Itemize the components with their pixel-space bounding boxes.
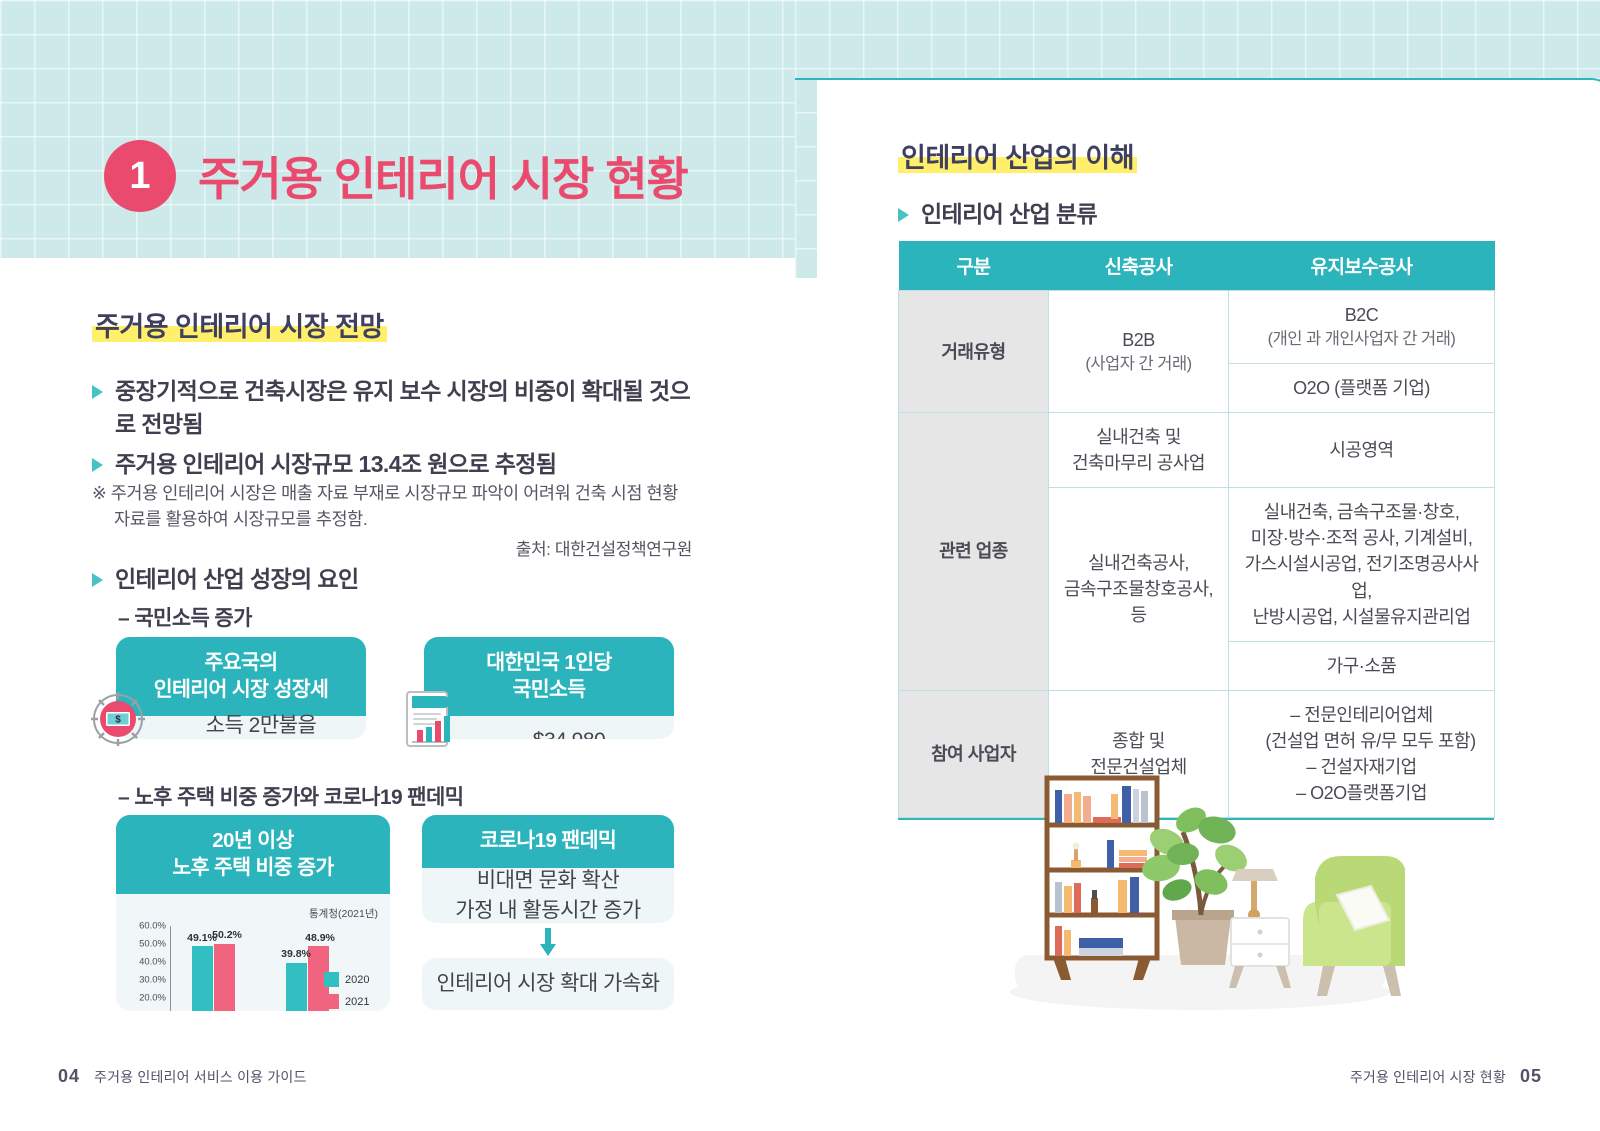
page-title: 주거용 인테리어 시장 현황 xyxy=(198,143,688,209)
card-covid-body: 비대면 문화 확산 가정 내 활동시간 증가 xyxy=(422,868,674,923)
chart-title: 20년 이상 노후 주택 비중 증가 xyxy=(116,815,390,894)
legend-label: 2020 xyxy=(345,974,369,986)
svg-text:$: $ xyxy=(115,715,121,726)
footer-left: 04 주거용 인테리어 서비스 이용 가이드 xyxy=(58,1066,307,1087)
triangle-bullet-icon xyxy=(92,573,103,587)
left-section-title: 주거용 인테리어 시장 전망 xyxy=(92,305,387,344)
bullet-item: 주거용 인테리어 시장규모 13.4조 원으로 추정됨 xyxy=(92,448,722,481)
header-band xyxy=(0,0,795,258)
legend-swatch xyxy=(324,994,339,1009)
triangle-bullet-icon xyxy=(898,208,909,222)
card-covid-result-text: 인테리어 시장 확대 가속화 xyxy=(422,958,674,1010)
bar-value-label: 39.8% xyxy=(281,948,311,960)
footer-left-text: 주거용 인테리어 서비스 이용 가이드 xyxy=(94,1067,307,1087)
source-label: 출처: 대한건설정책연구원 xyxy=(92,535,692,560)
bar-2020-nationwide xyxy=(192,946,213,1011)
cell-maint-construction-area: 시공영역 xyxy=(1229,413,1495,488)
bullet-item: 중장기적으로 건축시장은 유지 보수 시장의 비중이 확대될 것으로 전망됨 xyxy=(92,375,722,440)
legend-item-2020: 2020 xyxy=(324,972,369,987)
card-income-body: $34,980 xyxy=(424,716,674,739)
table-header-cell: 신축공사 xyxy=(1049,241,1229,291)
chapter-header: 1 주거용 인테리어 시장 현황 xyxy=(104,140,688,212)
note-line-1: ※ 주거용 인테리어 시장은 매출 자료 부재로 시장규모 파악이 어려워 건축… xyxy=(92,480,712,506)
ytick-label: 50.0% xyxy=(124,939,166,950)
page-number-left: 04 xyxy=(58,1066,80,1087)
card-income: 대한민국 1인당 국민소득 $34,980 xyxy=(424,637,674,739)
table-row: 관련 업종 실내건축 및 건축마무리 공사업 시공영역 xyxy=(899,413,1495,488)
classification-table: 구분 신축공사 유지보수공사 거래유형 B2B (사업자 간 거래) B2C (… xyxy=(898,241,1495,818)
cell-new-b2b: B2B (사업자 간 거래) xyxy=(1049,291,1229,413)
note-line-2: 자료를 활용하여 시장규모를 추정함. xyxy=(92,506,712,532)
legend-item-2021: 2021 xyxy=(324,994,369,1009)
footer-right: 주거용 인테리어 시장 현황 05 xyxy=(1350,1066,1542,1087)
arrow-down-icon xyxy=(536,928,560,958)
chart-source-note: 통계청(2021년) xyxy=(309,906,378,921)
table-header-cell: 구분 xyxy=(899,241,1049,291)
card-income-header: 대한민국 1인당 국민소득 xyxy=(424,637,674,716)
money-gear-icon: $ xyxy=(88,690,148,748)
bookshelf-icon xyxy=(1047,778,1157,980)
page-number-right: 05 xyxy=(1520,1066,1542,1087)
bar-2020-seoul xyxy=(286,963,307,1011)
subheading-income: – 국민소득 증가 xyxy=(118,602,252,632)
triangle-bullet-icon xyxy=(92,385,103,399)
living-room-illustration xyxy=(985,750,1405,1015)
ytick-label: 20.0% xyxy=(124,993,166,1004)
note-block: ※ 주거용 인테리어 시장은 매출 자료 부재로 시장규모 파악이 어려워 건축… xyxy=(92,480,712,533)
chart-card: 20년 이상 노후 주택 비중 증가 통계청(2021년) 60.0% 50.0… xyxy=(116,815,390,1011)
left-bullet-list: 중장기적으로 건축시장은 유지 보수 시장의 비중이 확대될 것으로 전망됨 주… xyxy=(92,375,722,481)
cell-maint-industry-list: 실내건축, 금속구조물·창호, 미장·방수·조적 공사, 기계설비, 가스시설시… xyxy=(1229,488,1495,641)
table-header-row: 구분 신축공사 유지보수공사 xyxy=(899,241,1495,291)
bullet-item-growth: 인테리어 산업 성장의 요인 xyxy=(92,563,359,596)
row-label-related-industry: 관련 업종 xyxy=(899,413,1049,691)
cell-maint-o2o: O2O (플랫폼 기업) xyxy=(1229,364,1495,413)
card-growth-header: 주요국의 인테리어 시장 성장세 xyxy=(116,637,366,716)
bar-2021-nationwide xyxy=(214,944,235,1011)
card-covid-result: 인테리어 시장 확대 가속화 xyxy=(422,958,674,1010)
card-growth-body: 소득 2만불을 기점으로 확대 xyxy=(116,716,366,739)
bar-chart-plot: 통계청(2021년) 60.0% 50.0% 40.0% 30.0% 20.0%… xyxy=(124,904,382,1011)
row-label-transaction-type: 거래유형 xyxy=(899,291,1049,413)
ytick-label: 30.0% xyxy=(124,975,166,986)
chapter-number-badge: 1 xyxy=(104,140,176,212)
bullet-item-classification: 인테리어 산업 분류 xyxy=(898,198,1097,231)
card-covid-header: 코로나19 팬데믹 xyxy=(422,815,674,868)
legend-swatch xyxy=(324,972,339,987)
card-covid: 코로나19 팬데믹 비대면 문화 확산 가정 내 활동시간 증가 xyxy=(422,815,674,923)
document-page: 1 주거용 인테리어 시장 현황 주거용 인테리어 시장 전망 중장기적으로 건… xyxy=(0,0,1600,1131)
cell-maint-furniture: 가구·소품 xyxy=(1229,641,1495,690)
table-header-cell: 유지보수공사 xyxy=(1229,241,1495,291)
footer-right-text: 주거용 인테리어 시장 현황 xyxy=(1350,1067,1506,1087)
legend-label: 2021 xyxy=(345,996,369,1008)
bar-value-label: 48.9% xyxy=(305,932,335,944)
triangle-bullet-icon xyxy=(92,458,103,472)
classification-table-wrapper: 구분 신축공사 유지보수공사 거래유형 B2B (사업자 간 거래) B2C (… xyxy=(898,241,1494,820)
right-page-grid-strip xyxy=(795,0,1600,78)
cell-new-interior-works: 실내건축공사, 금속구조물창호공사, 등 xyxy=(1049,488,1229,691)
right-section-title: 인테리어 산업의 이해 xyxy=(898,136,1137,175)
ytick-label: 40.0% xyxy=(124,957,166,968)
subheading-housing: – 노후 주택 비중 증가와 코로나19 팬데믹 xyxy=(118,781,463,811)
bar-value-label: 50.2% xyxy=(212,929,242,941)
cell-new-interior-finish: 실내건축 및 건축마무리 공사업 xyxy=(1049,413,1229,488)
table-row: 거래유형 B2B (사업자 간 거래) B2C (개인 과 개인사업자 간 거래… xyxy=(899,291,1495,364)
ytick-label: 60.0% xyxy=(124,921,166,932)
cell-maint-b2c: B2C (개인 과 개인사업자 간 거래) xyxy=(1229,291,1495,364)
report-chart-icon xyxy=(400,688,456,750)
card-growth: 주요국의 인테리어 시장 성장세 소득 2만불을 기점으로 확대 xyxy=(116,637,366,739)
right-page-frame-border xyxy=(795,78,1600,140)
